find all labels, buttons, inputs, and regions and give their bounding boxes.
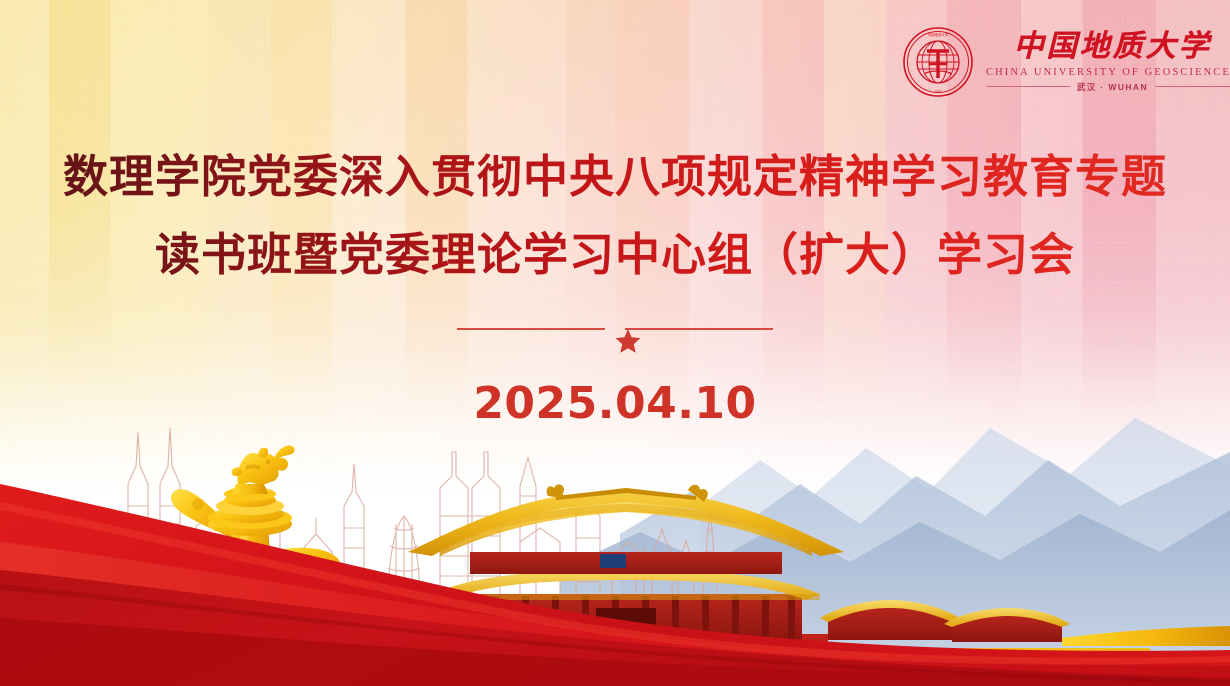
title-line-1: 数理学院党委深入贯彻中央八项规定精神学习教育专题 xyxy=(0,138,1230,216)
university-campus-row: 武汉 · WUHAN xyxy=(986,81,1230,93)
university-seal-icon: 中国地质大学 1952 xyxy=(902,26,974,98)
university-wordmark: 中国地质大学 CHINA UNIVERSITY OF GEOSCIENCES 武… xyxy=(986,31,1230,93)
divider-rule-right xyxy=(625,328,773,330)
campus-rule-right xyxy=(1155,86,1230,87)
star-divider xyxy=(0,328,1230,330)
poster-canvas: 中国地质大学 1952 中国地质大学 CHINA UNIVERSITY OF G… xyxy=(0,0,1230,686)
svg-text:1952: 1952 xyxy=(935,89,942,93)
page-title: 数理学院党委深入贯彻中央八项规定精神学习教育专题 读书班暨党委理论学习中心组（扩… xyxy=(0,138,1230,294)
university-campus: 武汉 · WUHAN xyxy=(1077,81,1148,93)
campus-rule-left xyxy=(986,86,1070,87)
university-name-en: CHINA UNIVERSITY OF GEOSCIENCES xyxy=(986,67,1230,78)
svg-text:中国地质大学: 中国地质大学 xyxy=(928,32,949,37)
university-logo: 中国地质大学 1952 中国地质大学 CHINA UNIVERSITY OF G… xyxy=(902,18,1202,106)
university-name-cn: 中国地质大学 xyxy=(1013,31,1211,63)
title-line-2: 读书班暨党委理论学习中心组（扩大）学习会 xyxy=(0,216,1230,294)
event-date: 2025.04.10 xyxy=(0,378,1230,429)
divider-rule-left xyxy=(457,328,605,330)
